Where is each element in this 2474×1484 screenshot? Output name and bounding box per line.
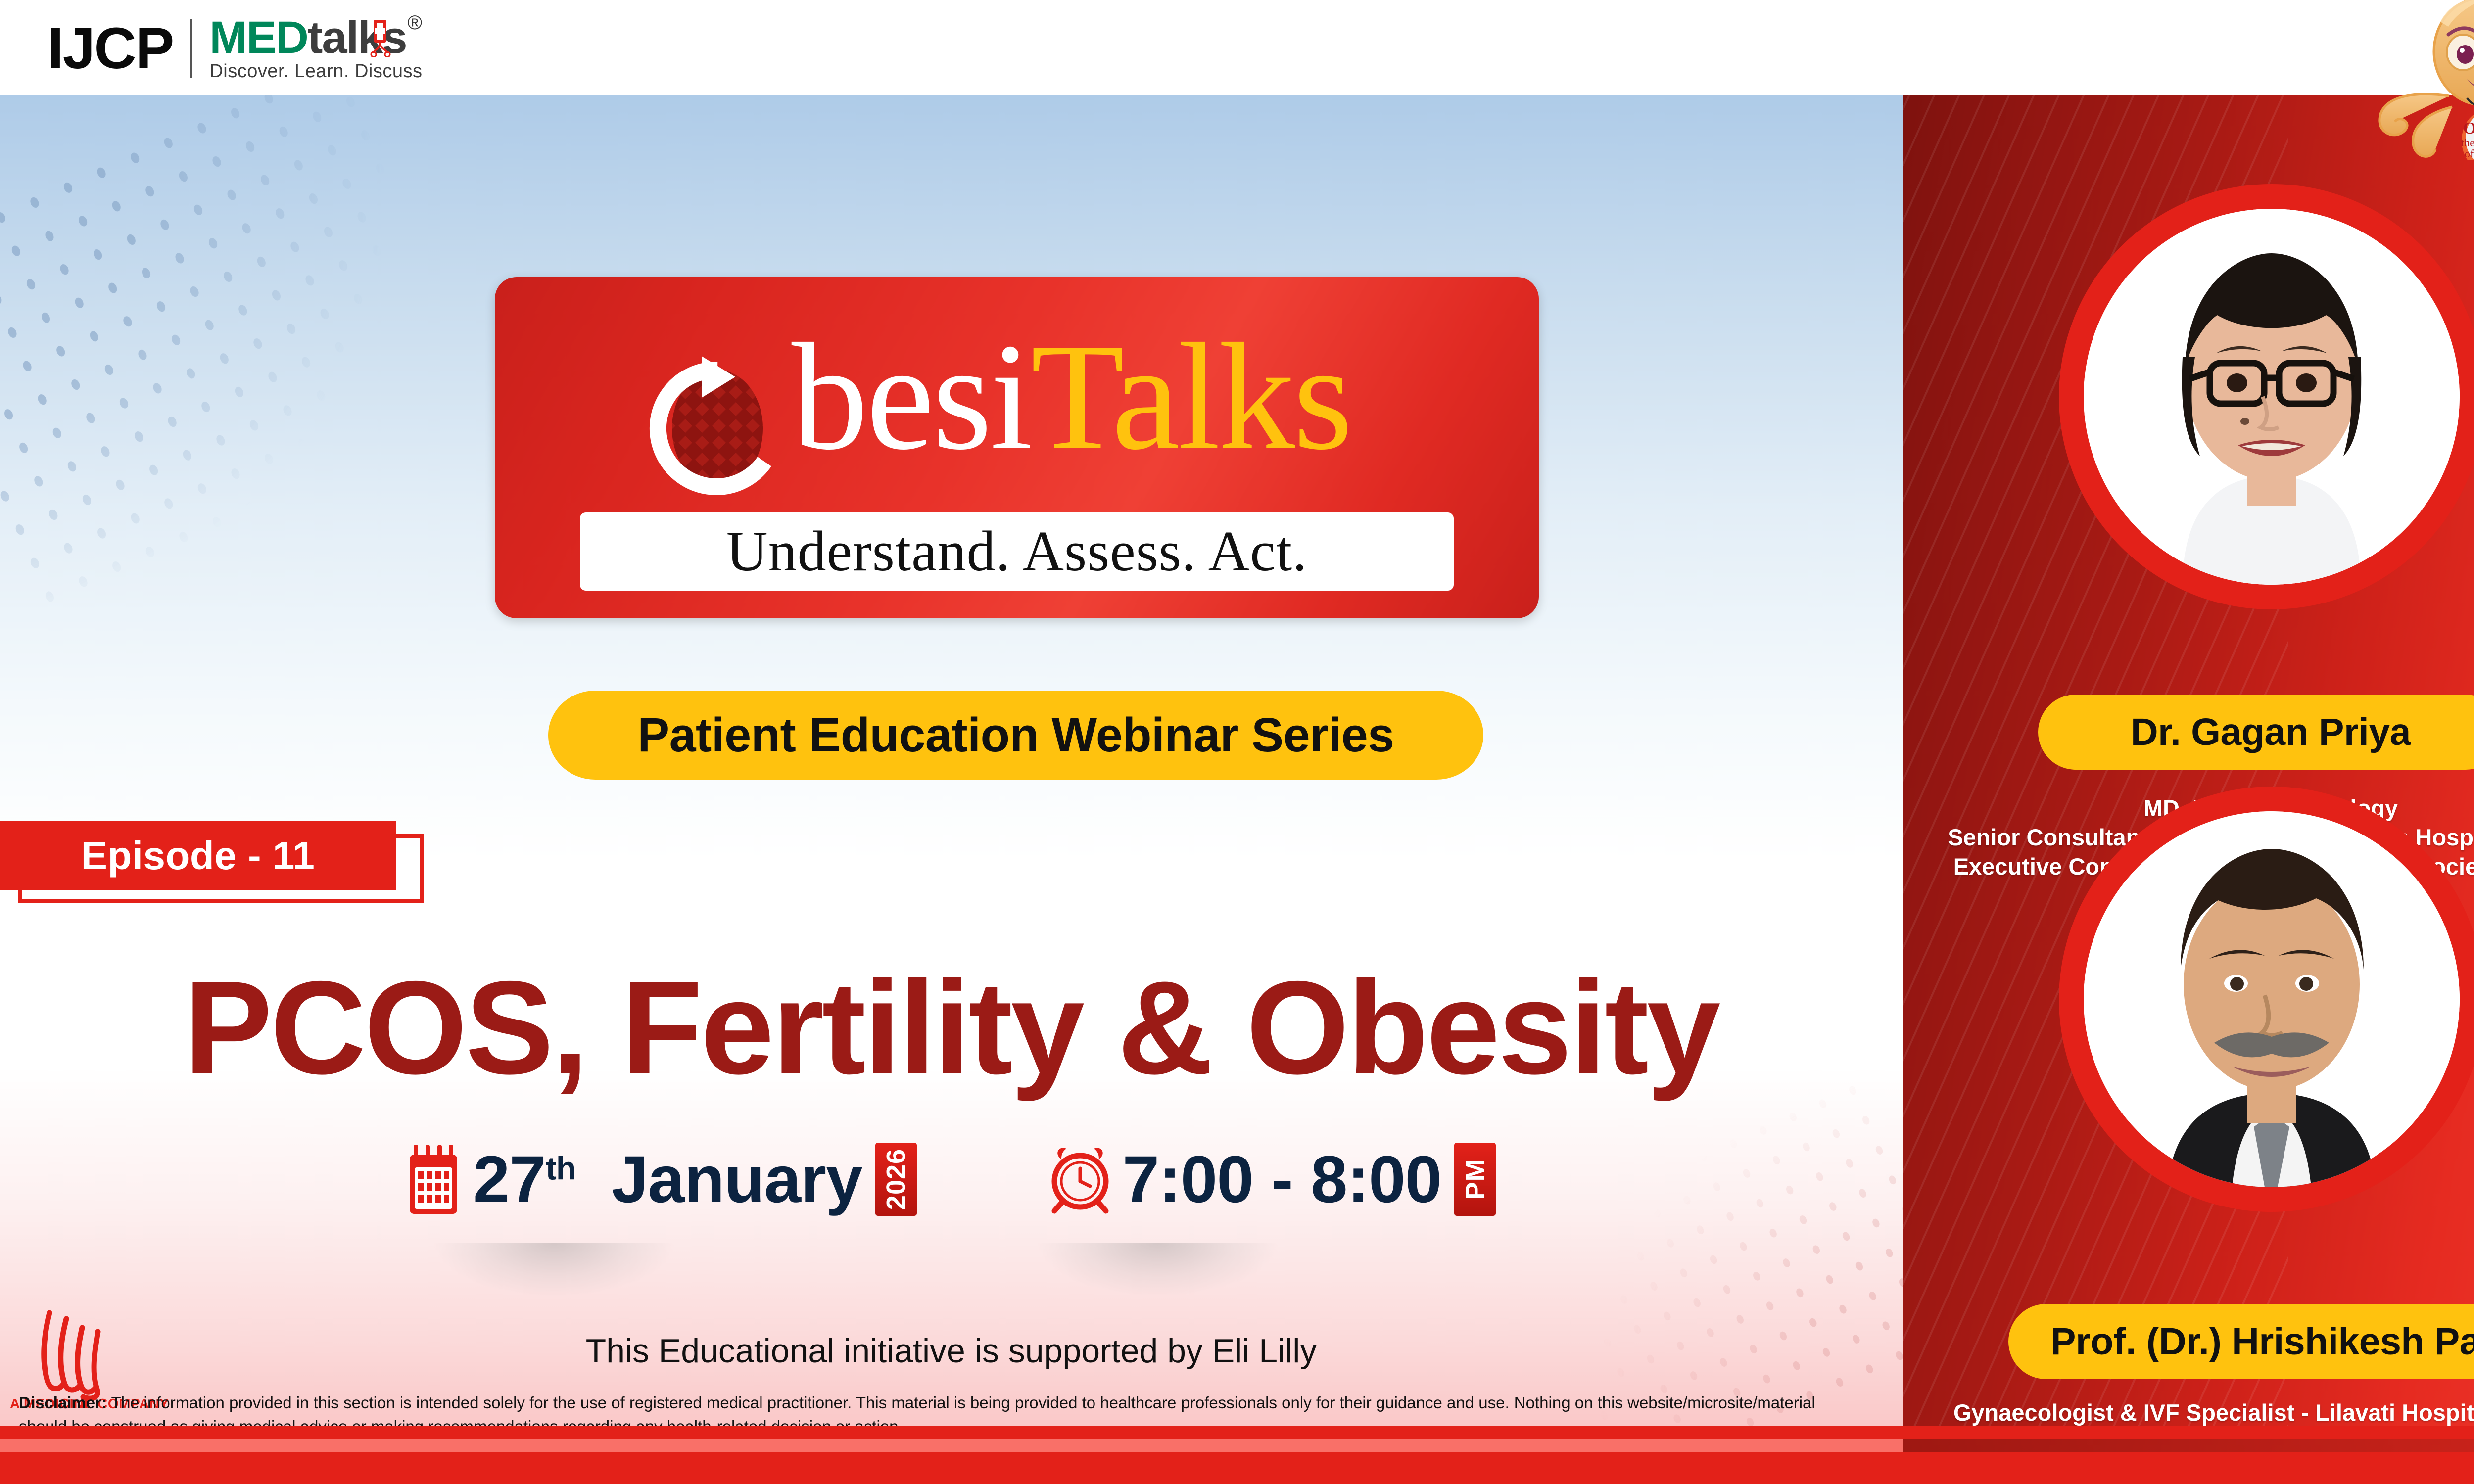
obesitalks-subtitle-band: Understand. Assess. Act. bbox=[580, 512, 1454, 591]
registered-trademark-icon: ® bbox=[408, 14, 422, 32]
supported-by-line: This Educational initiative is supported… bbox=[0, 1332, 1903, 1370]
footer-strip-bottom bbox=[0, 1452, 1903, 1484]
medtalks-logo: MED talks ® Discover. Learn. Discuss bbox=[209, 15, 422, 82]
speakers-panel: Dr. Gagan Priya MD, DM Endocrinology Sen… bbox=[1903, 95, 2474, 1484]
obesitalks-obesi-text: besi bbox=[792, 312, 1031, 482]
speaker-1-avatar bbox=[2084, 209, 2460, 585]
obesitalks-talks-text: Talks bbox=[1031, 312, 1351, 482]
event-time-group: 7:00 - 8:00 PM bbox=[1050, 1142, 1496, 1217]
ijcp-logo: IJCP bbox=[48, 19, 173, 78]
event-date-text: 27th January bbox=[473, 1142, 862, 1217]
obesitalks-logo-card: ObesiTalks Understand. Assess. Act. bbox=[495, 277, 1539, 618]
footer-strip-bottom-right bbox=[1903, 1452, 2474, 1484]
webinar-series-label: Patient Education Webinar Series bbox=[637, 707, 1394, 763]
footer-strip-middle bbox=[0, 1439, 1903, 1452]
event-time-text: 7:00 - 8:00 bbox=[1123, 1142, 1441, 1217]
event-year-tag: 2026 bbox=[875, 1143, 917, 1216]
footer-strip-top-right bbox=[1903, 1426, 2474, 1439]
refresh-arrow-o-icon bbox=[643, 350, 787, 499]
speaker-1-name: Dr. Gagan Priya bbox=[2131, 710, 2411, 754]
lilly-logo bbox=[24, 1302, 162, 1401]
mascot-line3: of Obesity bbox=[2465, 147, 2474, 160]
episode-badge-fill: Episode - 11 bbox=[0, 821, 396, 890]
event-date-group: 27th January 2026 bbox=[407, 1142, 917, 1217]
mascot-name: Omnie bbox=[2463, 119, 2474, 138]
event-datetime-row: 27th January 2026 7:00 - 8:00 bbox=[0, 1130, 1903, 1229]
footer-strip-top bbox=[0, 1426, 1903, 1439]
page-header: IJCP MED talks ® Discover. Learn. Discus… bbox=[0, 0, 2474, 95]
speaker-2-name-badge: Prof. (Dr.) Hrishikesh Pai bbox=[2008, 1304, 2474, 1379]
speaker-2-portrait bbox=[2084, 811, 2460, 1187]
speaker-2-name: Prof. (Dr.) Hrishikesh Pai bbox=[2050, 1320, 2474, 1364]
event-day: 27 bbox=[473, 1143, 546, 1216]
medtalks-med-text: MED bbox=[209, 17, 307, 59]
obesitalks-subtitle-text: Understand. Assess. Act. bbox=[726, 519, 1307, 585]
calendar-icon bbox=[407, 1143, 460, 1216]
page-title: PCOS, Fertility & Obesity bbox=[0, 958, 1903, 1097]
speaker-1-name-badge: Dr. Gagan Priya bbox=[2038, 695, 2474, 770]
event-month: January bbox=[612, 1143, 862, 1216]
speaker-2-avatar bbox=[2084, 811, 2460, 1187]
stethoscope-cross-icon bbox=[367, 19, 393, 57]
webinar-series-badge: Patient Education Webinar Series bbox=[548, 691, 1483, 780]
speaker-1-portrait bbox=[2084, 209, 2460, 585]
episode-label: Episode - 11 bbox=[81, 833, 315, 879]
disclaimer-label: Disclaimer: bbox=[19, 1393, 107, 1412]
left-content-panel: ObesiTalks Understand. Assess. Act. Pati… bbox=[0, 95, 1903, 1484]
brand-divider bbox=[190, 19, 192, 78]
webinar-poster: IJCP MED talks ® Discover. Learn. Discus… bbox=[0, 0, 2474, 1484]
event-year: 2026 bbox=[881, 1149, 911, 1210]
episode-badge: Episode - 11 bbox=[0, 821, 430, 904]
event-day-suffix: th bbox=[546, 1150, 575, 1186]
brand-tagline: Discover. Learn. Discuss bbox=[209, 61, 422, 82]
event-meridiem: PM bbox=[1460, 1159, 1490, 1200]
speaker-2-credential-line: Gynaecologist & IVF Specialist - Lilavat… bbox=[1903, 1398, 2474, 1427]
alarm-clock-icon bbox=[1050, 1145, 1110, 1214]
brand-lockup: IJCP MED talks ® Discover. Learn. Discus… bbox=[48, 15, 423, 82]
footer-strip-middle-right bbox=[1903, 1439, 2474, 1452]
event-meridiem-tag: PM bbox=[1454, 1143, 1496, 1216]
omnie-octopus-mascot-icon: Omnie the Octopus of Obesity bbox=[2326, 0, 2474, 160]
